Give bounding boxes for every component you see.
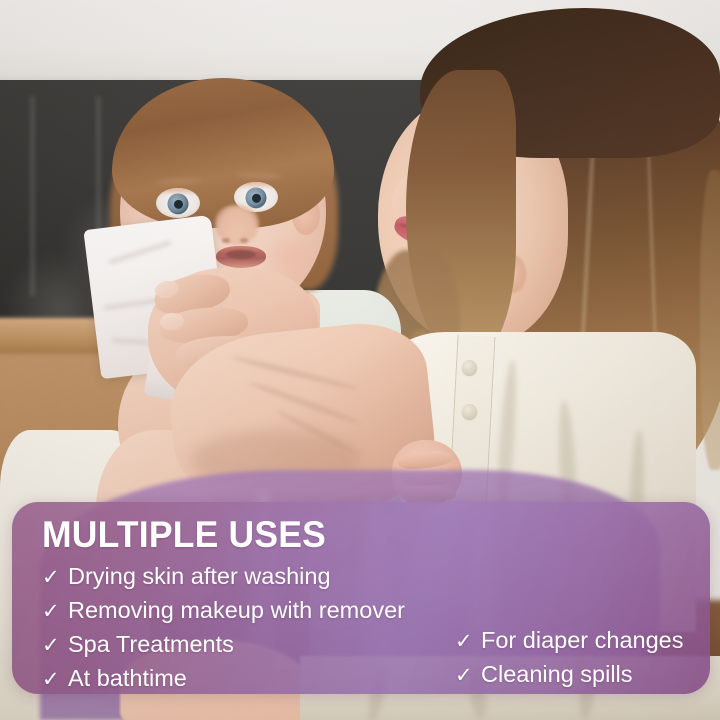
list-item: ✓ Cleaning spills [455,658,710,692]
checkmark-icon: ✓ [455,626,481,658]
panel-title: MULTIPLE USES [42,516,683,553]
baby-nostril [240,238,248,243]
list-item: ✓ Removing makeup with remover [42,594,472,628]
checkmark-icon: ✓ [42,596,68,628]
baby-mouth-inner [226,250,256,259]
checkmark-icon: ✓ [42,664,68,694]
blouse-button [462,360,477,375]
uses-column-left: ✓ Drying skin after washing ✓ Removing m… [42,560,472,694]
list-item: ✓ Drying skin after washing [42,560,472,594]
checkmark-icon: ✓ [42,630,68,662]
iris [246,187,267,208]
list-item: ✓ Spa Treatments [42,628,472,662]
baby-nostril [222,238,230,243]
list-item-label: Cleaning spills [481,658,633,690]
checkmark-icon: ✓ [42,562,68,594]
list-item-label: Removing makeup with remover [68,594,405,626]
banner-image: MULTIPLE USES ✓ Drying skin after washin… [0,0,720,720]
eyelid [156,188,200,192]
pupil [174,199,183,208]
eyelid [234,182,278,186]
uses-column-right: ✓ For diaper changes ✓ Cleaning spills [455,624,710,692]
hair-strand [700,170,720,470]
blouse-button [462,404,477,419]
list-item: ✓ For diaper changes [455,624,710,658]
list-item-label: Drying skin after washing [68,560,331,592]
multiple-uses-panel: MULTIPLE USES ✓ Drying skin after washin… [12,502,710,694]
checkmark-icon: ✓ [455,660,481,692]
baby-eye-left [156,188,200,218]
list-item-label: For diaper changes [481,624,683,656]
iris [168,193,189,214]
list-item-label: Spa Treatments [68,628,234,660]
pupil [252,193,261,202]
list-item: ✓ At bathtime [42,662,472,694]
list-item-label: At bathtime [68,662,187,694]
